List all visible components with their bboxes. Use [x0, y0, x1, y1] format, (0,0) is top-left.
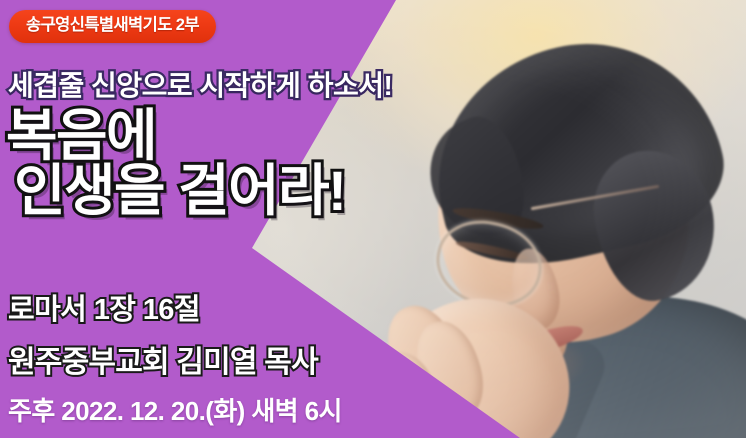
- church-and-speaker: 원주중부교회 김미열 목사: [8, 337, 342, 381]
- service-datetime: 주후 2022. 12. 20.(화) 새벽 6시: [8, 391, 342, 428]
- headline-line-2: 인생을 걸어라!: [6, 163, 345, 218]
- info-block: 로마서 1장 16절 원주중부교회 김미열 목사 주후 2022. 12. 20…: [8, 286, 342, 428]
- event-badge: 송구영신특별새벽기도 2부: [9, 10, 216, 43]
- sermon-thumbnail-poster: 송구영신특별새벽기도 2부 세겹줄 신앙으로 시작하게 하소서! 복음에 인생을…: [0, 0, 746, 438]
- headline-line-1: 복음에: [6, 104, 156, 167]
- headline: 복음에 인생을 걸어라!: [6, 108, 345, 219]
- subtitle-text: 세겹줄 신앙으로 시작하게 하소서!: [8, 64, 392, 104]
- scripture-reference: 로마서 1장 16절: [8, 286, 342, 328]
